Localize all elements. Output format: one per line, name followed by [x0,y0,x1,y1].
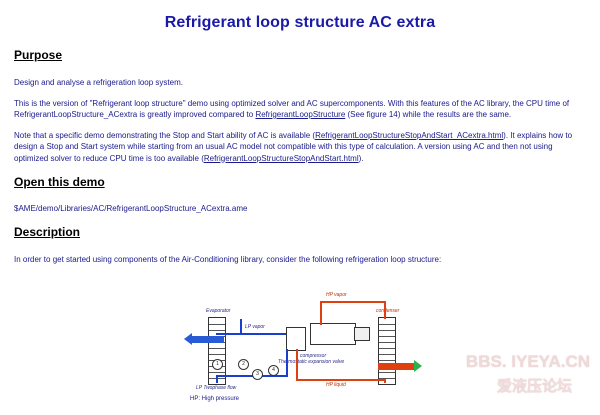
pipe-lp-vapor-horizontal [216,333,286,335]
pipe-hp-vapor-down-to-condenser [384,301,386,319]
pipe-hp-liquid-from-condenser [384,379,386,383]
purpose-section: Purpose [14,46,586,70]
pipe-hp-liquid-horizontal [296,379,384,381]
state-point-1: 1 [212,359,223,370]
link-stop-and-start[interactable]: RefrigerantLoopStructureStopAndStart.htm… [204,154,359,163]
purpose-paragraph-2: This is the version of "Refrigerant loop… [14,98,586,121]
pipe-hp-liquid-up-to-valve [296,349,298,381]
pipe-hp-vapor-up-from-compressor [320,301,322,325]
pipe-lp-twophase-to-evaporator [216,375,218,383]
purpose-paragraph-3-head: Note that a specific demo demonstrating … [14,131,315,140]
watermark-line-1: BBS. IYEYA.CN [466,352,590,372]
purpose-paragraph-2-tail: (See figure 14) while the results are th… [345,110,511,119]
description-section: Description [14,223,586,247]
label-hp-liquid: HP liquid [326,382,346,388]
watermark-line-2: 爱液压论坛 [497,375,572,396]
condenser-fins [379,318,395,384]
label-condenser: condenser [376,308,399,314]
state-point-4: 4 [268,365,279,376]
open-demo-section: Open this demo [14,173,586,197]
demo-file-path: $AME/demo/Libraries/AC/RefrigerantLoopSt… [14,204,586,213]
figure-footnote: HP: High pressure [190,396,239,402]
compressor-body [310,323,356,345]
purpose-paragraph-3: Note that a specific demo demonstrating … [14,130,586,165]
link-refrigerant-loop-structure[interactable]: RefrigerantLoopStructure [255,110,345,119]
section-heading-purpose: Purpose [14,48,62,62]
compressor-shaft [354,327,370,341]
pipe-lp-vapor-riser [240,319,242,335]
link-stop-and-start-acextra[interactable]: RefrigerantLoopStructureStopAndStart_ACe… [315,131,503,140]
state-point-2: 2 [238,359,249,370]
condenser-air-arrow-head [414,360,422,372]
purpose-paragraph-3-tail: ). [359,154,364,163]
pipe-lp-twophase-down [286,349,288,377]
evaporator-air-arrow-head [184,333,192,345]
label-hp-vapor: HP vapor [326,292,347,298]
condenser-air-arrow-shaft [378,363,414,370]
section-heading-open-this-demo: Open this demo [14,175,105,189]
label-evaporator: Evaporator [206,308,230,314]
section-heading-description: Description [14,225,80,239]
page-title: Refrigerant loop structure AC extra [14,14,586,32]
label-lp-twophase-flow: LP Twophase flow [196,385,236,391]
pipe-hp-vapor-horizontal [320,301,386,303]
label-lp-vapor: LP vapor [245,324,265,330]
expansion-valve-body [286,327,306,351]
description-intro: In order to get started using components… [14,254,586,266]
condenser-block [378,317,396,385]
purpose-paragraph-1: Design and analyse a refrigeration loop … [14,77,586,89]
evaporator-air-arrow-shaft [190,336,224,343]
state-point-3: 3 [252,369,263,380]
document-page: Refrigerant loop structure AC extra Purp… [0,0,600,409]
